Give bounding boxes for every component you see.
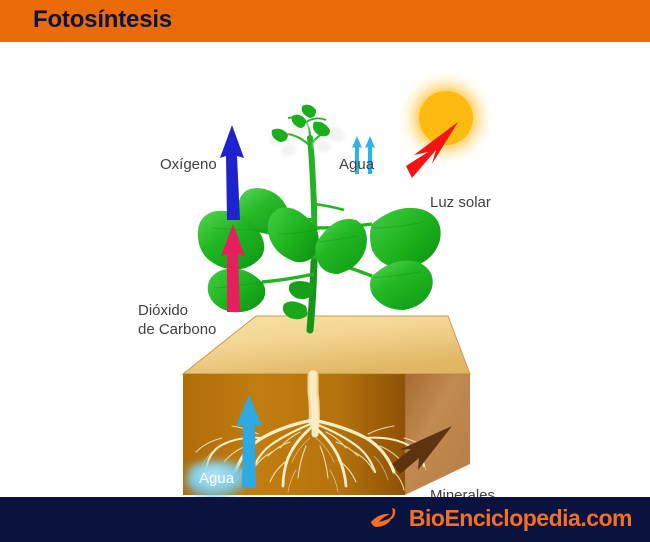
site-logo[interactable]: BioEnciclopedia.com <box>369 505 632 532</box>
label-oxigeno: Oxígeno <box>160 155 217 174</box>
label-dioxido-de-carbono: Dióxido de Carbono <box>138 301 216 339</box>
label-agua-hoja: Agua <box>339 155 374 174</box>
bird-swoosh-icon <box>369 506 403 532</box>
label-dioxido-de-carbono-line2: de Carbono <box>138 320 216 339</box>
label-luz-solar: Luz solar <box>430 193 491 212</box>
page-title: Fotosíntesis <box>33 6 172 34</box>
page-header: Fotosíntesis <box>0 0 650 42</box>
page-footer: BioEnciclopedia.com <box>0 497 650 542</box>
label-agua-suelo: Agua <box>199 469 234 488</box>
diagram-canvas: Oxígeno Agua Luz solar Dióxido de Carbon… <box>0 42 650 497</box>
photosynthesis-diagram <box>0 42 650 497</box>
sun-icon <box>402 74 490 162</box>
flowers-icon <box>267 105 347 158</box>
label-dioxido-de-carbono-line1: Dióxido <box>138 301 216 320</box>
site-brand-text: BioEnciclopedia.com <box>409 505 632 532</box>
